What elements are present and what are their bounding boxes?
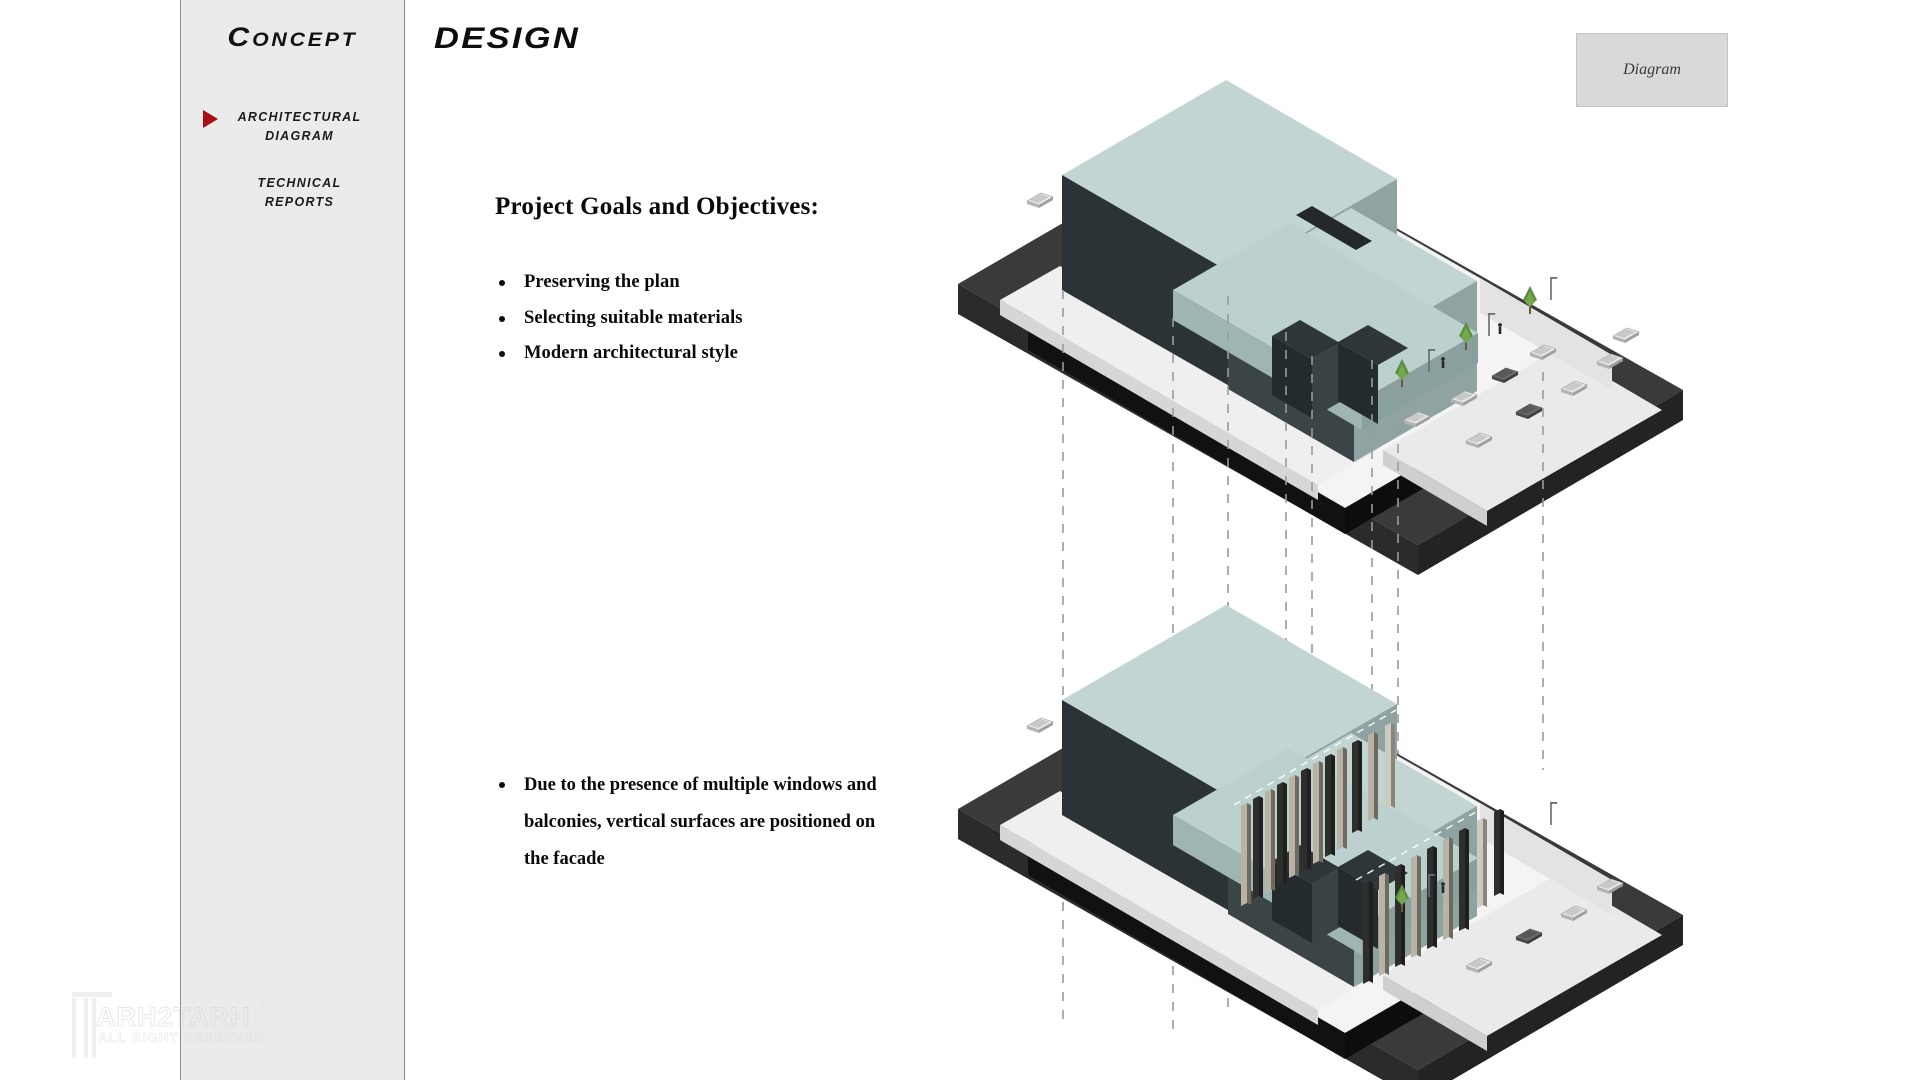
sidebar-item-architectural-diagram-line1: ARCHITECTURAL [207,108,392,127]
list-item: Modern architectural style [492,343,952,364]
facade-fins-block-b [1363,809,1504,984]
pillar-logo-icon [72,990,112,1058]
diagram-label-box: Diagram [1576,33,1728,107]
slide-page: Diagram DESIGN Concept ARCHITECTURAL DIA… [0,0,1920,1080]
sidebar: Concept ARCHITECTURAL DIAGRAM TECHNICAL … [180,0,405,1080]
sidebar-item-technical-reports[interactable]: TECHNICAL REPORTS [181,174,404,212]
page-title: DESIGN [434,22,580,56]
lower-isometric-diagram [958,605,1683,1080]
list-item: Selecting suitable materials [492,308,952,329]
sidebar-item-architectural-diagram-line2: DIAGRAM [207,127,392,146]
goals-bullet-list: Preserving the plan Selecting suitable m… [492,272,952,379]
projection-connector-lines [1063,290,1543,1035]
upper-isometric-diagram [958,80,1683,575]
sidebar-item-technical-reports-line2: REPORTS [207,193,392,212]
facade-note-block: Due to the presence of multiple windows … [492,767,887,878]
facade-note-text: Due to the presence of multiple windows … [492,767,887,878]
sidebar-item-technical-reports-line1: TECHNICAL [207,174,392,193]
list-item: Preserving the plan [492,272,952,293]
sidebar-title: Concept [168,22,418,53]
diagram-label-text: Diagram [1623,61,1681,79]
goals-heading: Project Goals and Objectives: [495,193,819,221]
sidebar-item-architectural-diagram[interactable]: ARCHITECTURAL DIAGRAM [181,108,404,146]
facade-fins-block-a [1241,723,1395,906]
active-arrow-icon [203,110,218,128]
sidebar-nav: ARCHITECTURAL DIAGRAM TECHNICAL REPORTS [181,108,404,212]
